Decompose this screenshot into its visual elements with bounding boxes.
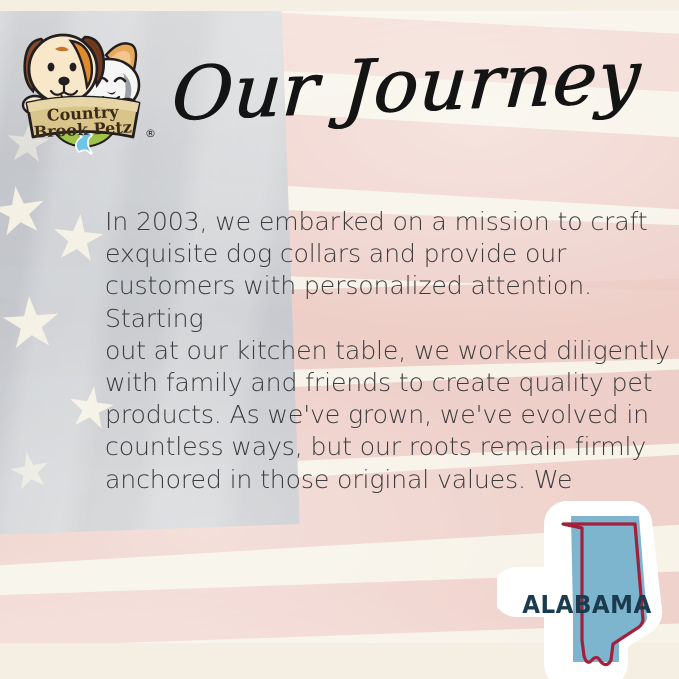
top-cream-band (0, 0, 679, 11)
country-brook-petz-logo: Country Brook Petz ® (11, 11, 157, 157)
promo-banner: Country Brook Petz ® Our Journey In 2003… (0, 0, 679, 679)
body-copy-clip: In 2003, we embarked on a mission to cra… (0, 200, 679, 500)
registered-trademark-icon: ® (145, 127, 156, 140)
logo-banner-sign: Country Brook Petz (27, 97, 139, 142)
logo-banner-line-2: Brook Petz (33, 117, 132, 141)
body-line: with family and friends to create qualit… (105, 367, 671, 399)
alabama-state-badge: ALABAMA (497, 492, 679, 679)
body-line: out at our kitchen table, we worked dili… (105, 335, 671, 367)
body-line: exquisite dog collars and provide our (105, 238, 671, 270)
body-line: customers with personalized attention. S… (105, 270, 671, 334)
body-line: products. As we've grown, we've evolved … (105, 399, 671, 431)
body-line: In 2003, we embarked on a mission to cra… (105, 206, 671, 238)
body-copy: In 2003, we embarked on a mission to cra… (105, 206, 671, 500)
page-title: Our Journey (170, 40, 643, 132)
body-line: countless ways, but our roots remain fir… (105, 431, 671, 463)
badge-label: ALABAMA (517, 590, 657, 619)
body-line: anchored in those original values. We (105, 464, 671, 496)
